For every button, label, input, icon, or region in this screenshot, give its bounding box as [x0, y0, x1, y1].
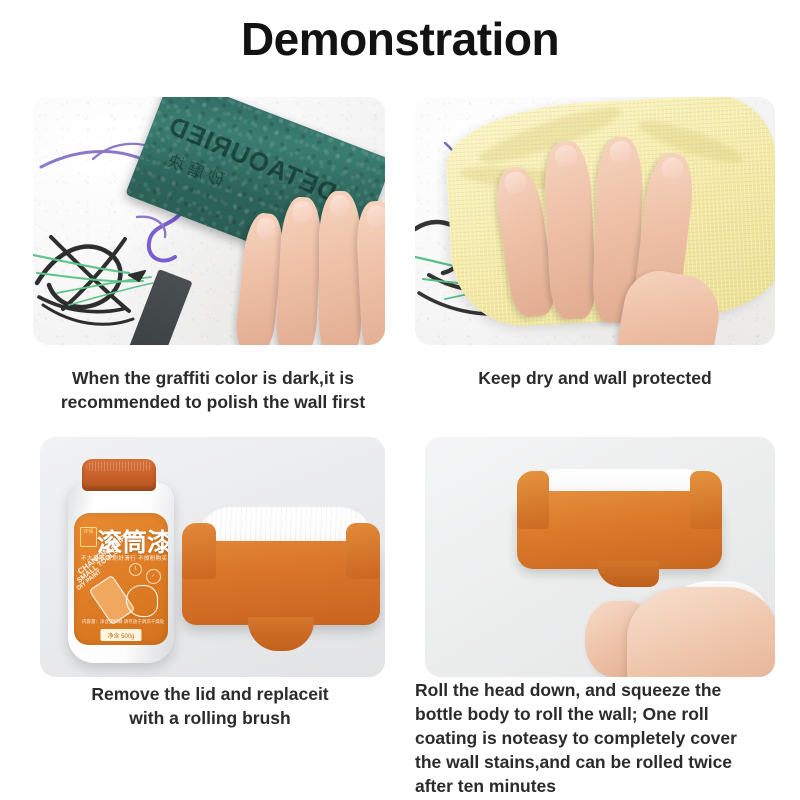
caption-panel-1: When the graffiti color is dark,it is re…	[33, 366, 393, 414]
roller-arm-left	[517, 471, 549, 529]
demonstration-grid: DETAOURIED 砂磨块	[0, 0, 800, 800]
caption-panel-2: Keep dry and wall protected	[415, 366, 775, 390]
roller-stem	[597, 561, 659, 587]
fingernail	[292, 201, 312, 224]
roller-arm-left	[182, 523, 216, 579]
caption-line: bottle body to roll the wall; One roll	[415, 702, 785, 726]
caption-line: Roll the head down, and squeeze the	[415, 678, 785, 702]
demo-photo-sanding-block: DETAOURIED 砂磨块	[33, 97, 385, 345]
roller-brush-head	[182, 507, 380, 657]
caption-line: recommended to polish the wall first	[33, 390, 393, 414]
fingernail	[366, 205, 385, 228]
roller-arm-right	[346, 523, 380, 579]
fingernail	[555, 145, 578, 168]
caption-line: Keep dry and wall protected	[415, 366, 775, 390]
bottle-label: 环保 滚筒漆 不大满墙 好刷好滑行 不掉粉购买 不多转国色 CHANGING L…	[74, 513, 168, 645]
fingernail	[330, 195, 350, 217]
finger	[319, 191, 361, 345]
fingernail	[660, 156, 685, 181]
fingernail	[256, 216, 276, 240]
paint-bottle: 环保 滚筒漆 不大满墙 好刷好滑行 不掉粉购买 不多转国色 CHANGING L…	[62, 455, 180, 663]
demo-photo-rolling-wall	[425, 437, 775, 677]
roller-applicator	[517, 469, 722, 594]
caption-line: with a rolling brush	[25, 706, 395, 730]
roller-stem	[248, 617, 314, 651]
caption-line: coating is noteasy to completely cover	[415, 726, 785, 750]
label-hand-illustration	[126, 585, 158, 617]
demo-photo-bottle-and-roller: 环保 滚筒漆 不大满墙 好刷好滑行 不掉粉购买 不多转国色 CHANGING L…	[40, 437, 385, 677]
demo-photo-wiping-cloth	[415, 97, 775, 345]
caption-panel-4: Roll the head down, and squeeze the bott…	[415, 678, 785, 798]
caption-line: Remove the lid and replaceit	[25, 682, 395, 706]
label-mark-2: ✓	[146, 569, 161, 584]
fingernail	[609, 141, 632, 164]
caption-line: the wall stains,and can be rolled twice	[415, 750, 785, 774]
fingernail	[503, 170, 527, 195]
eco-badge: 环保	[80, 527, 97, 547]
finger	[542, 140, 597, 320]
label-footnote: 内容量：净含塑料桶 请存放于阴凉干燥处	[82, 619, 164, 625]
hand-holding-roller	[585, 587, 770, 677]
roller-frame	[182, 541, 380, 625]
palm	[627, 587, 775, 677]
caption-line: When the graffiti color is dark,it is	[33, 366, 393, 390]
hand-wiping-wall	[503, 123, 713, 343]
caption-panel-3: Remove the lid and replaceit with a roll…	[25, 682, 395, 730]
caption-line: after ten minutes	[415, 774, 785, 798]
hand-holding-sponge	[237, 175, 385, 345]
roller-frame	[517, 491, 722, 569]
roller-arm-right	[690, 471, 722, 529]
label-weight-tag: 净含 500g	[100, 629, 141, 641]
bottle-cap	[82, 459, 156, 491]
label-mark-1: 1	[129, 563, 142, 576]
finger	[275, 196, 323, 345]
